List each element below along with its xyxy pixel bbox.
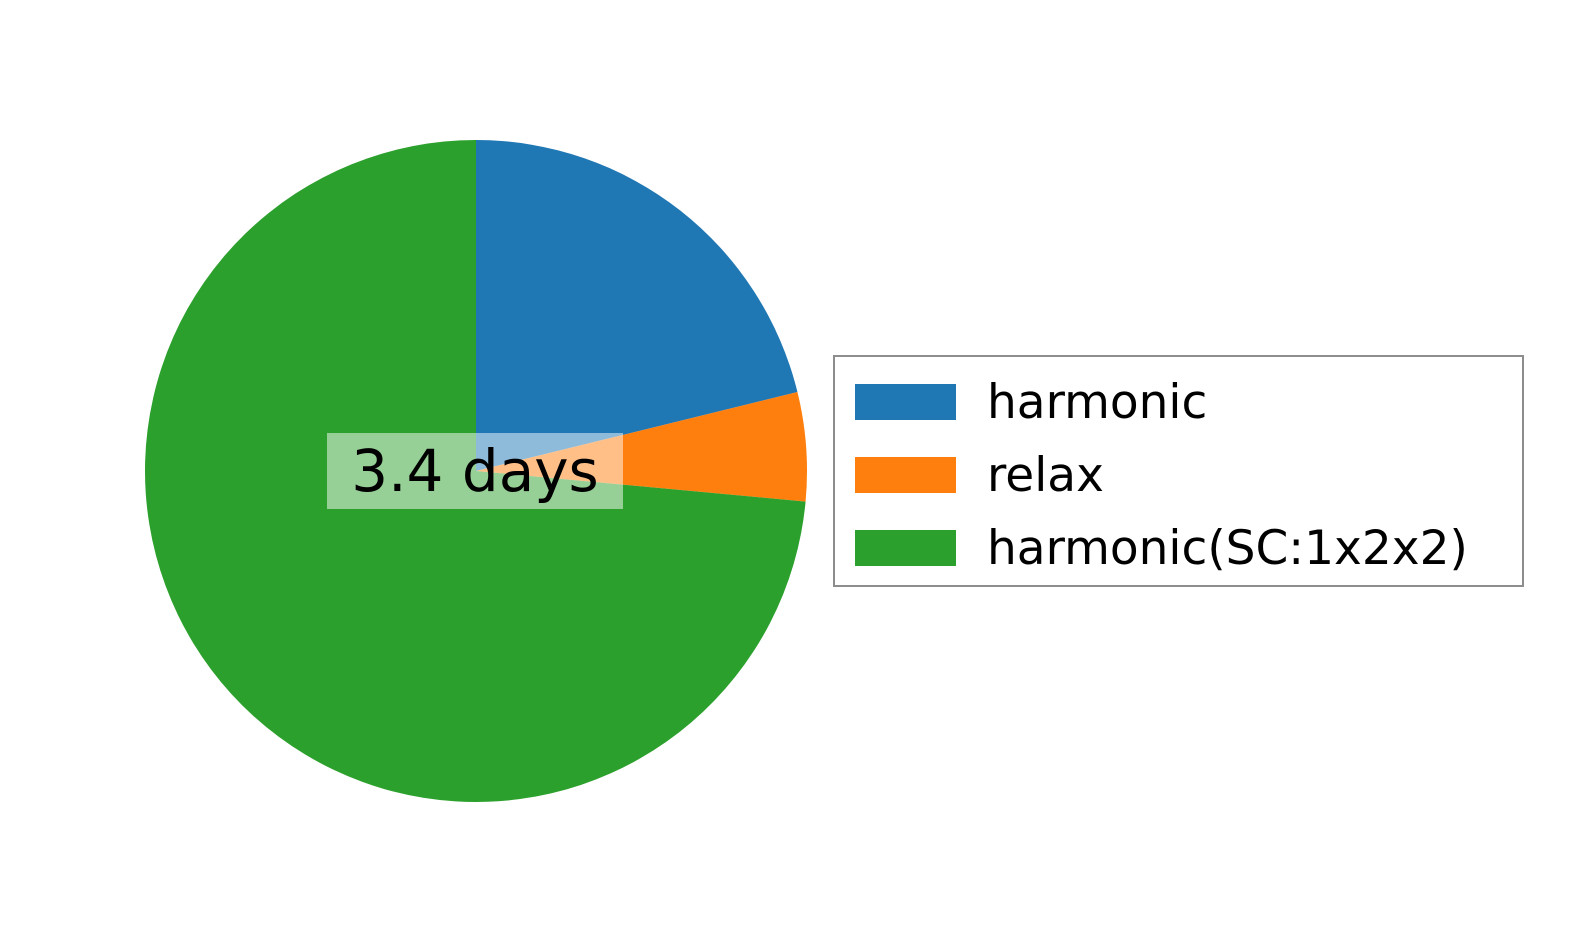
legend-label-relax: relax [987,450,1104,500]
legend-swatch-harmonic-sc [855,530,956,566]
pie-center-label-text: 3.4 days [351,442,599,500]
legend-entry-harmonic-sc[interactable]: harmonic(SC:1x2x2) [835,523,1522,573]
legend-swatch-harmonic [855,384,956,420]
pie-chart-area: 3.4 days [0,0,900,951]
pie-center-label-box: 3.4 days [327,433,623,509]
chart-legend: harmonic relax harmonic(SC:1x2x2) [833,355,1524,587]
legend-label-harmonic-sc: harmonic(SC:1x2x2) [987,523,1468,573]
legend-swatch-relax [855,457,956,493]
legend-entry-harmonic[interactable]: harmonic [835,377,1522,427]
legend-label-harmonic: harmonic [987,377,1207,427]
legend-entry-relax[interactable]: relax [835,450,1522,500]
figure-canvas: 3.4 days harmonic relax harmonic(SC:1x2x… [0,0,1584,951]
